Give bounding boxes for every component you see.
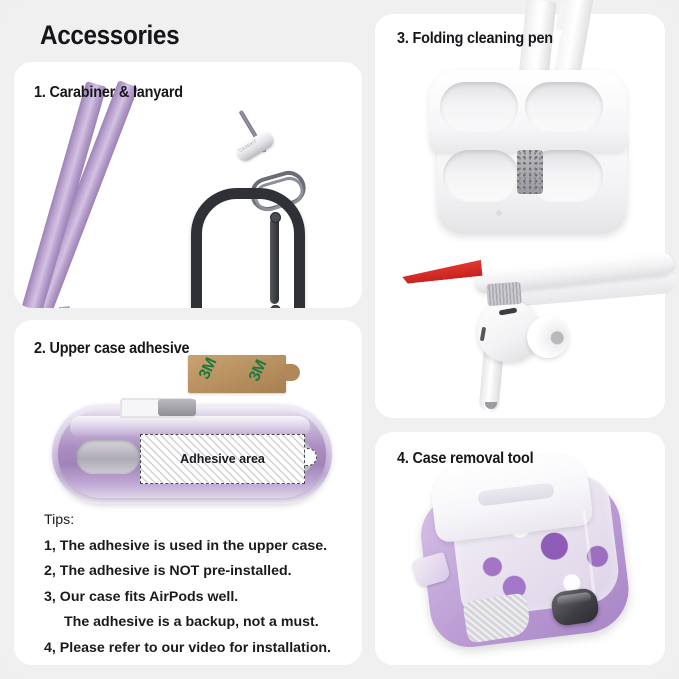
case-hinge-metal — [158, 399, 196, 416]
tip-item-3-continued: The adhesive is a backup, not a must. — [44, 610, 354, 636]
tip-marker-4: 4, — [44, 640, 56, 656]
tip-item-4: 4, Please refer to our video for install… — [44, 636, 354, 662]
tip-item-2: 2, The adhesive is NOT pre-installed. — [44, 559, 354, 585]
tip-marker-2: 2, — [44, 563, 56, 579]
tip-text-3: Our case fits AirPods well. — [60, 589, 238, 605]
tip-text-1: The adhesive is used in the upper case. — [60, 538, 327, 554]
cleaning-pen-sponge-tip — [517, 150, 543, 194]
panel-4-title: 4. Case removal tool — [397, 450, 533, 468]
adhesive-area-label: Adhesive area — [176, 450, 269, 468]
case-lid-well-left — [440, 82, 518, 132]
tip-text-2: The adhesive is NOT pre-installed. — [60, 563, 292, 579]
tip-marker-1: 1, — [44, 538, 56, 554]
carabiner-pin-top — [270, 212, 281, 223]
tips-list: 1, The adhesive is used in the upper cas… — [44, 534, 354, 662]
adhesive-area-marker: Adhesive area — [140, 434, 305, 484]
lanyard-strap-fold — [59, 301, 120, 308]
case-base-well-left — [443, 150, 519, 202]
panel-carabiner-lanyard[interactable]: 1. Carabiner & lanyard CASEKIT — [14, 62, 362, 308]
panel-1-title: 1. Carabiner & lanyard — [34, 84, 183, 102]
tips-block: Tips: 1, The adhesive is used in the upp… — [44, 508, 354, 661]
page-background: Accessories 1. Carabiner & lanyard CASEK… — [0, 0, 679, 679]
case-lid-well-right — [525, 82, 603, 132]
earbud-silicone-tip — [527, 316, 569, 358]
cleaning-pen-brush — [486, 282, 521, 306]
tip-item-3: 3, Our case fits AirPods well. — [44, 585, 354, 611]
tip-item-1: 1, The adhesive is used in the upper cas… — [44, 534, 354, 560]
carabiner-gate — [270, 218, 279, 304]
carabiner-icon — [191, 188, 305, 308]
page-title: Accessories — [40, 20, 179, 51]
earbud-slot-left — [76, 440, 140, 474]
panel-2-title: 2. Upper case adhesive — [34, 340, 189, 358]
panel-3-title: 3. Folding cleaning pen — [397, 30, 553, 48]
tip-text-4: Please refer to our video for installati… — [60, 640, 331, 656]
tip-marker-3: 3, — [44, 589, 56, 605]
case-led-indicator — [496, 210, 502, 216]
tips-heading: Tips: — [44, 508, 354, 534]
tip-text-3b: The adhesive is a backup, not a must. — [64, 614, 319, 630]
